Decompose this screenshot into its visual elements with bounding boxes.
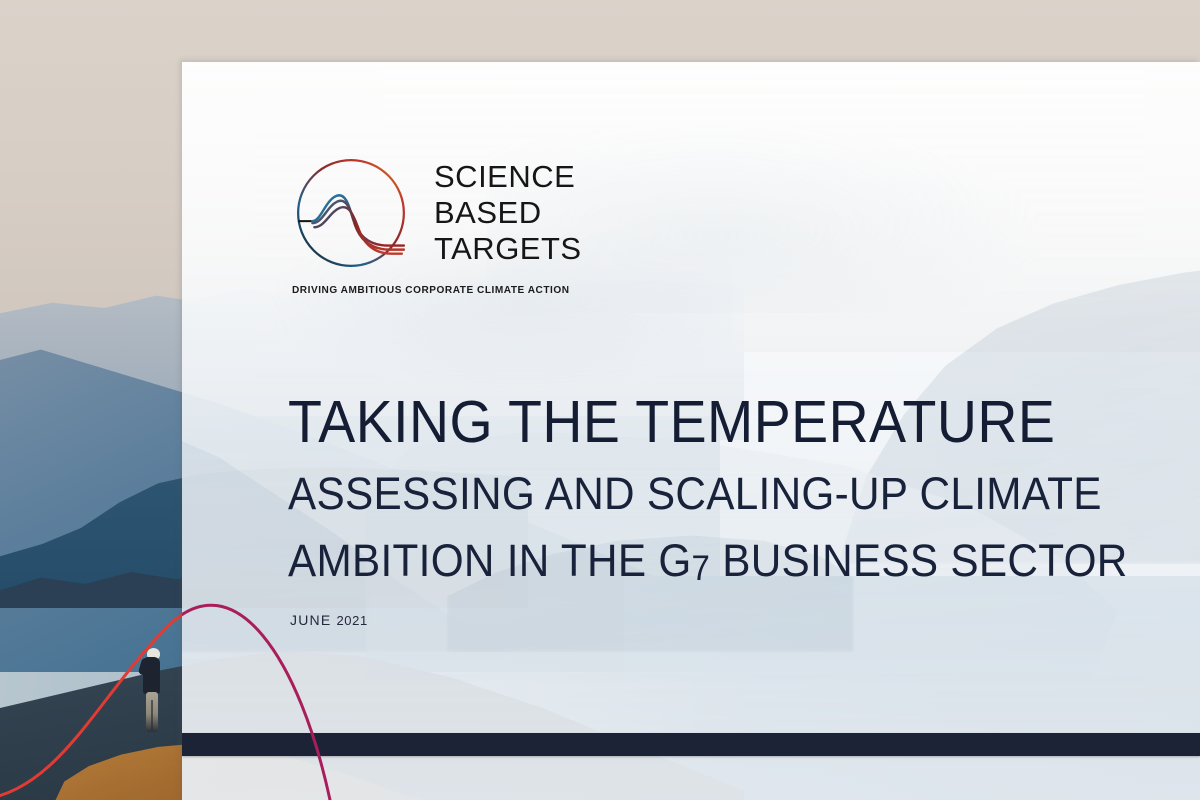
- g7-seven: 7: [692, 549, 711, 588]
- sbti-wordmark: SCIENCE BASED TARGETS: [434, 159, 582, 267]
- publication-month: JUNE: [290, 612, 331, 628]
- wordmark-line-1: SCIENCE: [434, 159, 582, 195]
- subtitle-line-2-after: BUSINESS SECTOR: [710, 535, 1127, 586]
- cover-title-block: TAKING THE TEMPERATURE ASSESSING AND SCA…: [288, 392, 1160, 587]
- sbti-tagline: DRIVING AMBITIOUS CORPORATE CLIMATE ACTI…: [292, 284, 693, 296]
- report-subtitle-line-1: ASSESSING AND SCALING-UP CLIMATE: [288, 468, 1108, 519]
- publication-date: JUNE 2021: [290, 612, 368, 628]
- cover-card: SCIENCE BASED TARGETS DRIVING AMBITIOUS …: [182, 62, 1200, 800]
- sbti-circle-curves-mark: [290, 152, 412, 274]
- report-main-title: TAKING THE TEMPERATURE: [288, 392, 1108, 452]
- subtitle-g7-numeral: 7: [692, 535, 711, 586]
- publication-year: 2021: [336, 613, 367, 628]
- wordmark-line-3: TARGETS: [434, 231, 582, 267]
- person-silhouette: [139, 648, 165, 733]
- subtitle-line-2-before: AMBITION IN THE G: [288, 535, 692, 586]
- person-leg-gap: [151, 700, 153, 730]
- sbti-logo: SCIENCE BASED TARGETS DRIVING AMBITIOUS …: [290, 152, 710, 296]
- report-cover-screen: SCIENCE BASED TARGETS DRIVING AMBITIOUS …: [0, 0, 1200, 800]
- navy-footer-bar: [182, 733, 1200, 756]
- wordmark-line-2: BASED: [434, 195, 582, 231]
- report-subtitle-line-2: AMBITION IN THE G7 BUSINESS SECTOR: [288, 535, 1108, 586]
- person-torso: [143, 657, 160, 694]
